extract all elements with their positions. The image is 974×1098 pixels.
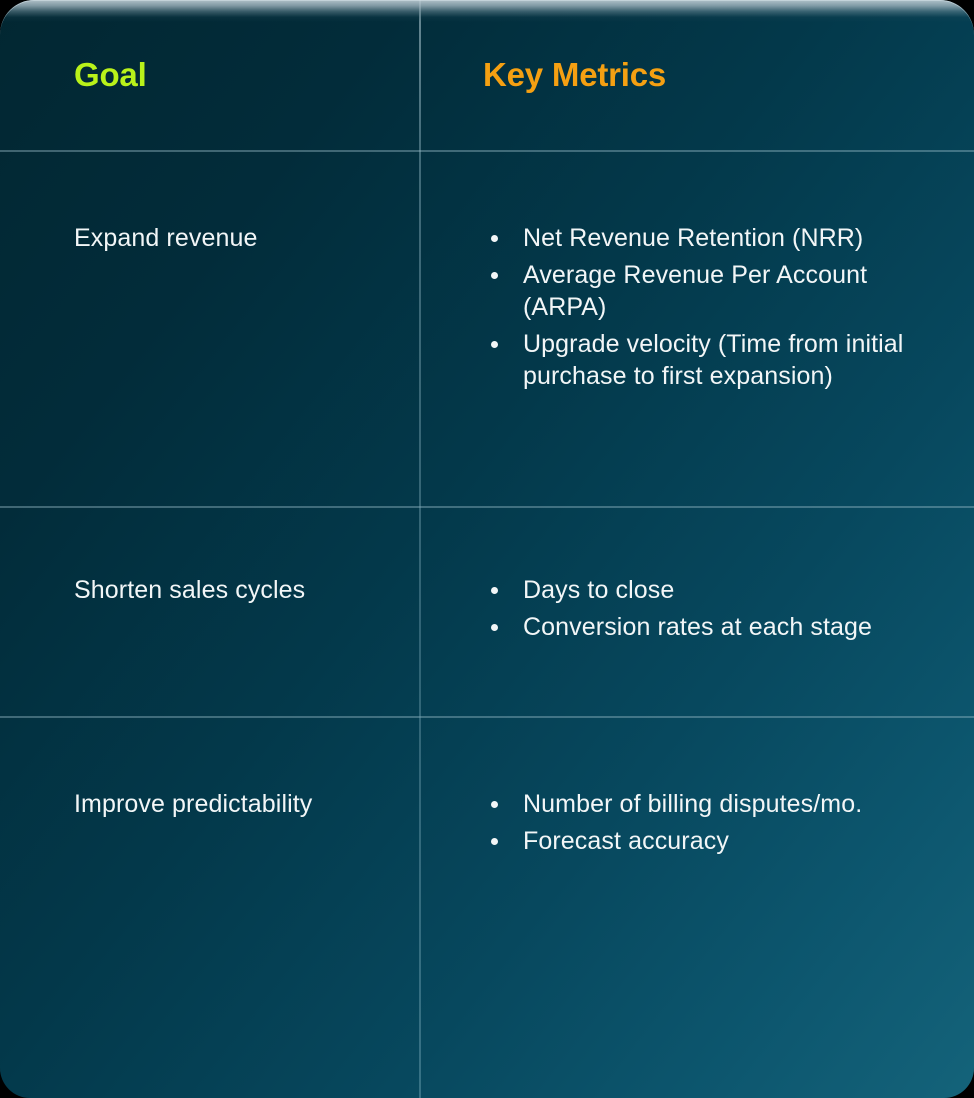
row-cell-goal: Improve predictability (0, 716, 419, 1098)
row-cell-key-metrics: Net Revenue Retention (NRR) Average Reve… (419, 150, 974, 506)
list-item: Net Revenue Retention (NRR) (483, 222, 942, 255)
list-item: Number of billing disputes/mo. (483, 788, 942, 821)
table-header-row: Goal Key Metrics (0, 0, 974, 150)
row-cell-goal: Expand revenue (0, 150, 419, 506)
metrics-list: Number of billing disputes/mo. Forecast … (483, 788, 942, 857)
list-item: Forecast accuracy (483, 825, 942, 858)
table-row: Shorten sales cycles Days to close Conve… (0, 506, 974, 716)
goal-text: Shorten sales cycles (74, 574, 399, 606)
goal-text: Expand revenue (74, 222, 399, 254)
header-cell-key-metrics: Key Metrics (419, 57, 974, 93)
row-cell-goal: Shorten sales cycles (0, 506, 419, 716)
metrics-list: Net Revenue Retention (NRR) Average Reve… (483, 222, 942, 393)
list-item: Conversion rates at each stage (483, 611, 942, 644)
metrics-list: Days to close Conversion rates at each s… (483, 574, 942, 643)
table-row: Improve predictability Number of billing… (0, 716, 974, 1098)
header-cell-goal: Goal (0, 57, 419, 93)
list-item: Upgrade velocity (Time from initial purc… (483, 328, 942, 393)
goal-text: Improve predictability (74, 788, 399, 820)
goal-metrics-table-card: Goal Key Metrics Expand revenue Net Reve… (0, 0, 974, 1098)
header-goal-label: Goal (74, 57, 399, 93)
table-row: Expand revenue Net Revenue Retention (NR… (0, 150, 974, 506)
list-item: Average Revenue Per Account (ARPA) (483, 259, 942, 324)
row-cell-key-metrics: Days to close Conversion rates at each s… (419, 506, 974, 716)
row-cell-key-metrics: Number of billing disputes/mo. Forecast … (419, 716, 974, 1098)
list-item: Days to close (483, 574, 942, 607)
header-key-metrics-label: Key Metrics (483, 57, 942, 93)
